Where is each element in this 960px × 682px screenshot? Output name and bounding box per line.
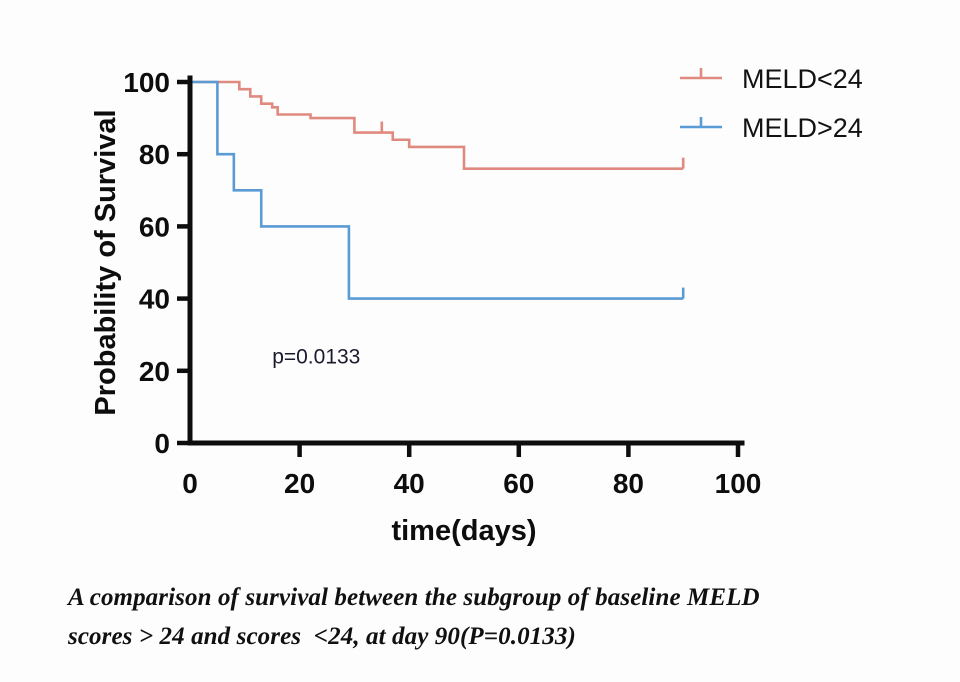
y-tick-label-60: 60 bbox=[139, 211, 170, 242]
y-tick-label-100: 100 bbox=[123, 67, 170, 98]
chart-plot-area: 020406080100020406080100 MELD<24MELD>24 … bbox=[0, 0, 960, 560]
x-tick-label-40: 40 bbox=[394, 468, 425, 499]
survival-figure: 020406080100020406080100 MELD<24MELD>24 … bbox=[0, 0, 960, 682]
p-value-text: p=0.0133 bbox=[272, 346, 360, 369]
caption-line-1: A comparison of survival between the sub… bbox=[68, 578, 920, 617]
tick-labels-layer: 020406080100020406080100 bbox=[123, 67, 761, 499]
y-tick-label-20: 20 bbox=[139, 356, 170, 387]
caption-line-2: scores > 24 and scores <24, at day 90(P=… bbox=[68, 617, 920, 656]
x-tick-label-0: 0 bbox=[182, 468, 198, 499]
survival-curves-layer bbox=[190, 82, 683, 299]
axes-layer bbox=[177, 78, 742, 457]
y-axis-title: Probability of Survival bbox=[90, 109, 122, 415]
x-axis-title: time(days) bbox=[391, 515, 536, 547]
x-tick-label-60: 60 bbox=[503, 468, 534, 499]
x-tick-label-20: 20 bbox=[284, 468, 315, 499]
y-tick-label-40: 40 bbox=[139, 284, 170, 315]
y-tick-label-80: 80 bbox=[139, 139, 170, 170]
x-tick-label-100: 100 bbox=[715, 468, 762, 499]
kaplan-meier-chart: 020406080100020406080100 MELD<24MELD>24 … bbox=[0, 0, 960, 560]
chart-legend: MELD<24MELD>24 bbox=[680, 64, 863, 143]
survival-curve-1 bbox=[190, 82, 683, 299]
x-tick-label-80: 80 bbox=[613, 468, 644, 499]
y-tick-label-0: 0 bbox=[154, 428, 170, 459]
legend-label-0: MELD<24 bbox=[742, 64, 863, 94]
figure-caption: A comparison of survival between the sub… bbox=[68, 578, 920, 656]
legend-label-1: MELD>24 bbox=[742, 113, 863, 143]
p-value-annotation: p=0.0133 bbox=[272, 346, 360, 369]
survival-curve-0 bbox=[190, 82, 683, 169]
